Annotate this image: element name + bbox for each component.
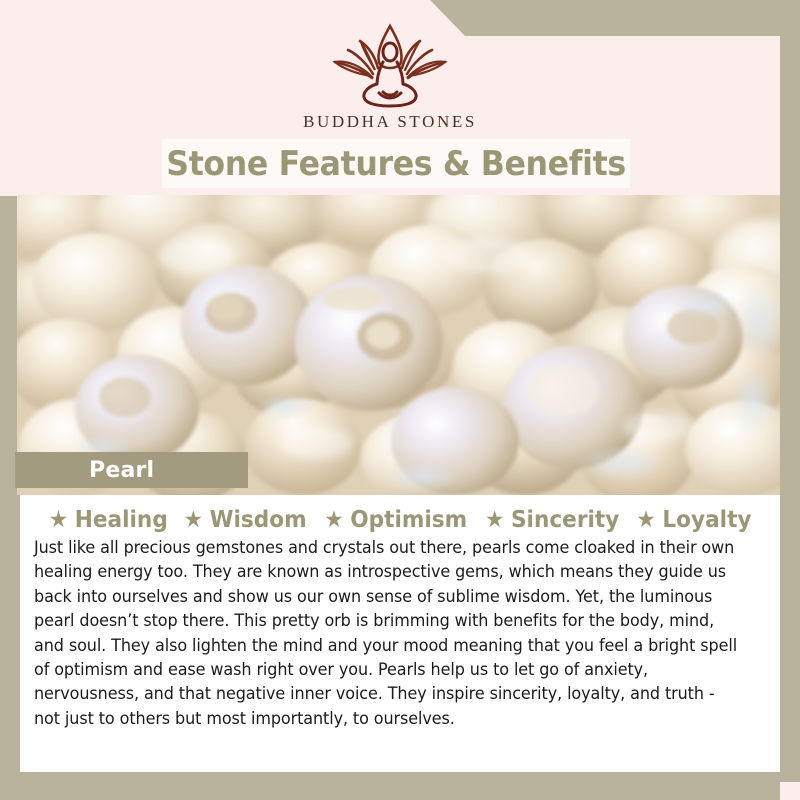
- benefit-label: Optimism: [350, 507, 467, 533]
- benefit-label: Wisdom: [210, 507, 307, 533]
- star-icon: ★: [485, 509, 504, 532]
- stone-name-bar: Pearl: [15, 452, 248, 488]
- star-icon: ★: [184, 509, 203, 532]
- page-title: Stone Features & Benefits: [166, 144, 625, 184]
- poster-root: BUDDHA STONES Stone Features & Benefits: [0, 0, 800, 800]
- description-text: Just like all precious gemstones and cry…: [34, 536, 742, 731]
- benefit-label: Sincerity: [511, 507, 619, 533]
- right-frame-rail: [780, 0, 800, 800]
- benefit-item: ★ Healing: [48, 507, 167, 533]
- benefit-label: Healing: [74, 507, 167, 533]
- bottom-frame-band: [0, 772, 800, 800]
- benefit-item: ★ Loyalty: [628, 507, 752, 533]
- content-panel: ★ Healing ★ Wisdom ★ Optimism ★ Sincerit…: [20, 495, 780, 772]
- benefit-item: ★ Sincerity: [477, 507, 620, 533]
- lotus-meditation-figure-icon: [315, 18, 465, 110]
- left-frame-rail: [0, 196, 17, 800]
- benefit-label: Loyalty: [662, 507, 751, 533]
- star-icon: ★: [48, 509, 67, 532]
- star-icon: ★: [636, 509, 655, 532]
- title-banner: Stone Features & Benefits: [162, 139, 630, 188]
- brand-name: BUDDHA STONES: [0, 112, 780, 132]
- pearls-photo-illustration: [17, 195, 780, 495]
- star-icon: ★: [324, 509, 343, 532]
- brand-logo: BUDDHA STONES: [0, 18, 780, 132]
- benefit-item: ★ Optimism: [316, 507, 467, 533]
- bottom-right-corner-accent: [780, 782, 800, 800]
- hero-image: [17, 195, 780, 495]
- benefit-item: ★ Wisdom: [175, 507, 306, 533]
- benefits-list: ★ Healing ★ Wisdom ★ Optimism ★ Sincerit…: [20, 495, 780, 533]
- stone-name: Pearl: [89, 458, 154, 483]
